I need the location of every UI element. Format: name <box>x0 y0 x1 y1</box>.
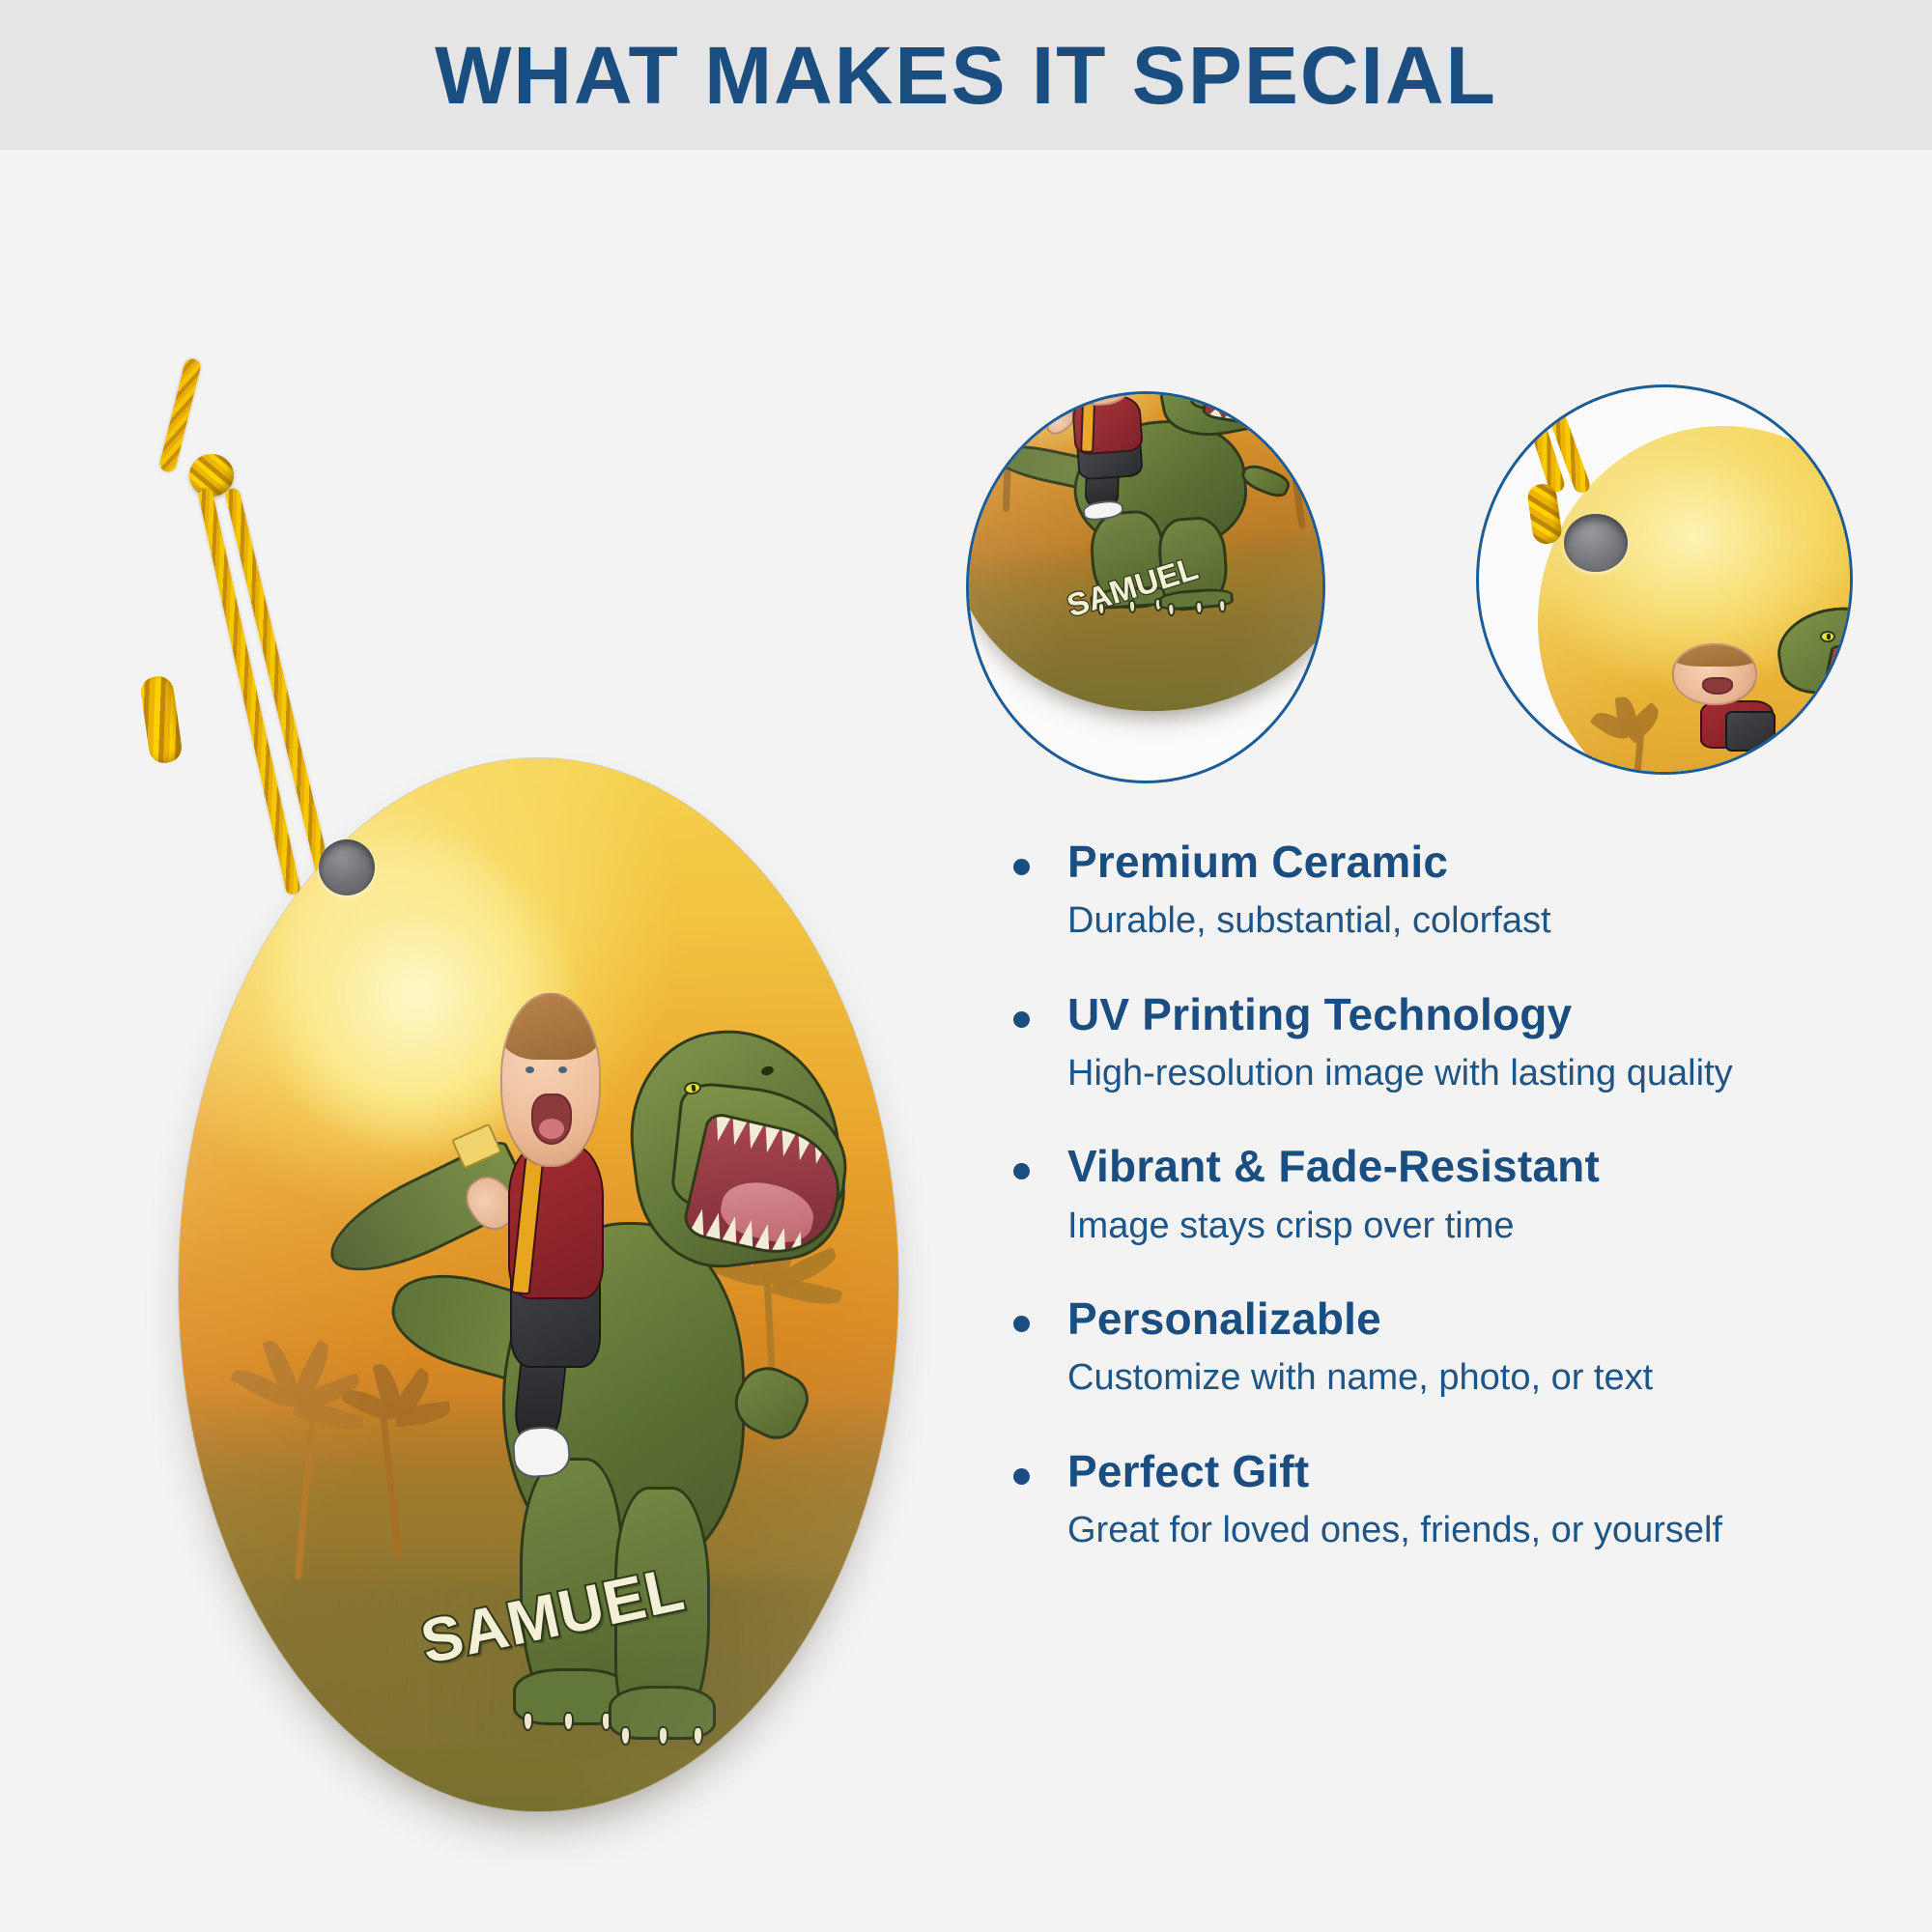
dino-tongue <box>1845 670 1853 703</box>
feature-subtitle: High-resolution image with lasting quali… <box>1067 1050 1869 1097</box>
dino-eye <box>1820 631 1835 642</box>
ornament-disc: SAMUEL <box>179 758 898 1811</box>
feature-item: Perfect Gift Great for loved ones, frien… <box>1000 1445 1869 1555</box>
boy-eye <box>558 1066 567 1073</box>
callout-hole-closeup <box>1476 384 1853 775</box>
boy-rider <box>1054 391 1158 512</box>
callout-angled-view: SAMUEL <box>966 391 1325 783</box>
boy-hair <box>500 993 602 1060</box>
feature-title: Vibrant & Fade-Resistant <box>1067 1140 1869 1192</box>
feature-item: UV Printing Technology High-resolution i… <box>1000 988 1869 1098</box>
boy-mouth <box>1702 677 1733 695</box>
boy-face-photo <box>1672 643 1757 705</box>
dino-upper-teeth <box>1836 646 1853 673</box>
bullet-icon <box>1013 1316 1030 1332</box>
header-band: WHAT MAKES IT SPECIAL <box>0 0 1932 150</box>
cord-loop-top <box>158 357 203 474</box>
tilted-ornament: SAMUEL <box>966 391 1325 725</box>
t-rex-partial <box>1761 598 1853 747</box>
feature-title: Perfect Gift <box>1067 1445 1869 1497</box>
hero-product-image: SAMUEL <box>0 150 966 1932</box>
feature-subtitle: Image stays crisp over time <box>1067 1203 1869 1250</box>
boy-rider <box>1666 643 1768 753</box>
bullet-icon <box>1013 1468 1030 1485</box>
feature-subtitle: Durable, substantial, colorfast <box>1067 897 1869 945</box>
feature-item: Personalizable Customize with name, phot… <box>1000 1293 1869 1403</box>
page-title: WHAT MAKES IT SPECIAL <box>435 35 1497 116</box>
boy-overalls <box>1725 711 1776 751</box>
dino-foot <box>609 1686 716 1740</box>
feature-subtitle: Great for loved ones, friends, or yourse… <box>1067 1507 1869 1554</box>
feature-title: Premium Ceramic <box>1067 836 1869 888</box>
feature-title: Personalizable <box>1067 1293 1869 1345</box>
bullet-icon <box>1013 1011 1030 1028</box>
boy-mouth <box>1087 391 1117 397</box>
boy-face-photo <box>500 993 602 1167</box>
boy-eye <box>526 1066 534 1073</box>
feature-item: Premium Ceramic Durable, substantial, co… <box>1000 836 1869 946</box>
feature-title: UV Printing Technology <box>1067 988 1869 1040</box>
dino-upper-teeth <box>1213 391 1307 398</box>
boy-mouth <box>531 1094 572 1145</box>
bullet-icon <box>1013 1163 1030 1179</box>
palm-tree-icon <box>1590 727 1667 775</box>
boy-strap <box>1080 402 1095 453</box>
boy-hair <box>1672 643 1757 668</box>
feature-subtitle: Customize with name, photo, or text <box>1067 1354 1869 1402</box>
feature-item: Vibrant & Fade-Resistant Image stays cri… <box>1000 1140 1869 1250</box>
feature-list: Premium Ceramic Durable, substantial, co… <box>1000 836 1869 1554</box>
dinosaur-illustration <box>966 391 1325 725</box>
bullet-icon <box>1013 859 1030 875</box>
hanging-cord <box>1497 384 1594 555</box>
boy-rider <box>490 993 619 1450</box>
hanging-hole <box>319 839 375 895</box>
